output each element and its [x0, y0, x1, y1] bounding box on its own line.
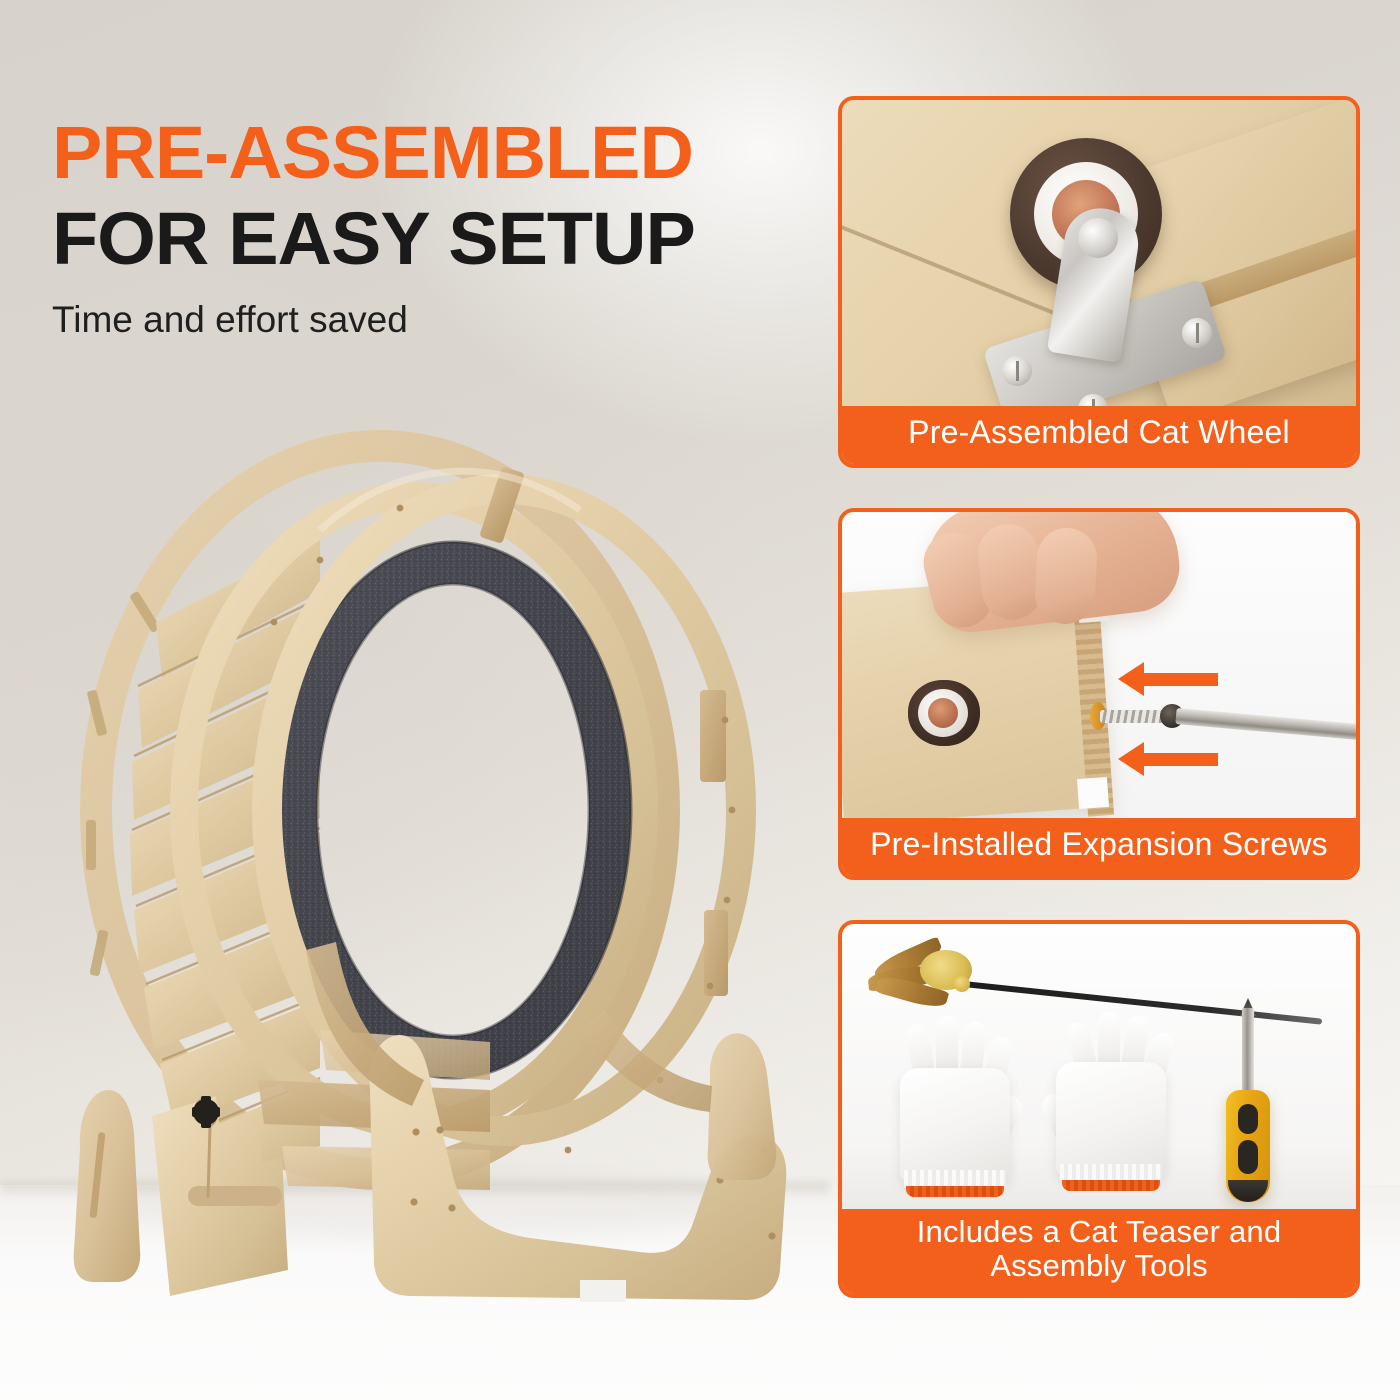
- glove-cuff-orange-trim: [1062, 1180, 1160, 1191]
- screwdriver-grip-pad: [1238, 1140, 1258, 1174]
- glove-palm: [1056, 1062, 1166, 1178]
- panel-1-photo-caster-wheel: [842, 100, 1356, 406]
- cat-wheel-illustration: [20, 390, 830, 1350]
- expansion-screw-thread: [1100, 710, 1168, 723]
- small-caster-wheel: [908, 680, 980, 746]
- mounting-screw: [1002, 356, 1032, 386]
- panel-1-caption: Pre-Assembled Cat Wheel: [842, 406, 1356, 464]
- panel-3-photo-accessories: [842, 924, 1356, 1209]
- small-caster-hub: [918, 689, 968, 737]
- feature-panel-includes-accessories[interactable]: Includes a Cat Teaser and Assembly Tools: [838, 920, 1360, 1298]
- finger: [1034, 526, 1099, 625]
- work-glove-left: [894, 1020, 1018, 1202]
- panel-3-caption-line-1: Includes a Cat Teaser and: [848, 1215, 1350, 1250]
- direction-arrow-icon: [1118, 742, 1218, 776]
- panel-3-caption: Includes a Cat Teaser and Assembly Tools: [842, 1209, 1356, 1294]
- headline-block: PRE-ASSEMBLED FOR EASY SETUP Time and ef…: [52, 118, 752, 341]
- product-photo-cat-wheel: [20, 390, 830, 1350]
- teaser-bell: [954, 976, 970, 992]
- marketing-image-canvas: PRE-ASSEMBLED FOR EASY SETUP Time and ef…: [0, 0, 1400, 1400]
- small-caster-bearing: [928, 698, 958, 728]
- glove-cuff-orange-trim: [906, 1186, 1004, 1197]
- direction-arrow-icon: [1118, 662, 1218, 696]
- screwdriver-grip-pad: [1238, 1104, 1258, 1134]
- screwdriver-shaft: [1242, 1008, 1254, 1094]
- headline-line-2: FOR EASY SETUP: [52, 204, 766, 274]
- panel-2-caption: Pre-Installed Expansion Screws: [842, 818, 1356, 876]
- glove-palm: [900, 1068, 1010, 1184]
- headline-subtitle: Time and effort saved: [52, 299, 752, 341]
- mounting-screw: [1182, 318, 1212, 348]
- work-glove-right: [1050, 1014, 1174, 1196]
- feature-panel-pre-installed-expansion-screws[interactable]: Pre-Installed Expansion Screws: [838, 508, 1360, 880]
- caster-axle-bolt: [1078, 218, 1118, 258]
- board-notch-bottom: [1077, 777, 1109, 809]
- feature-panel-pre-assembled-cat-wheel[interactable]: Pre-Assembled Cat Wheel: [838, 96, 1360, 468]
- headline-line-1: PRE-ASSEMBLED: [52, 118, 766, 188]
- panel-2-photo-screw-install: [842, 512, 1356, 818]
- panel-3-caption-line-2: Assembly Tools: [848, 1249, 1350, 1284]
